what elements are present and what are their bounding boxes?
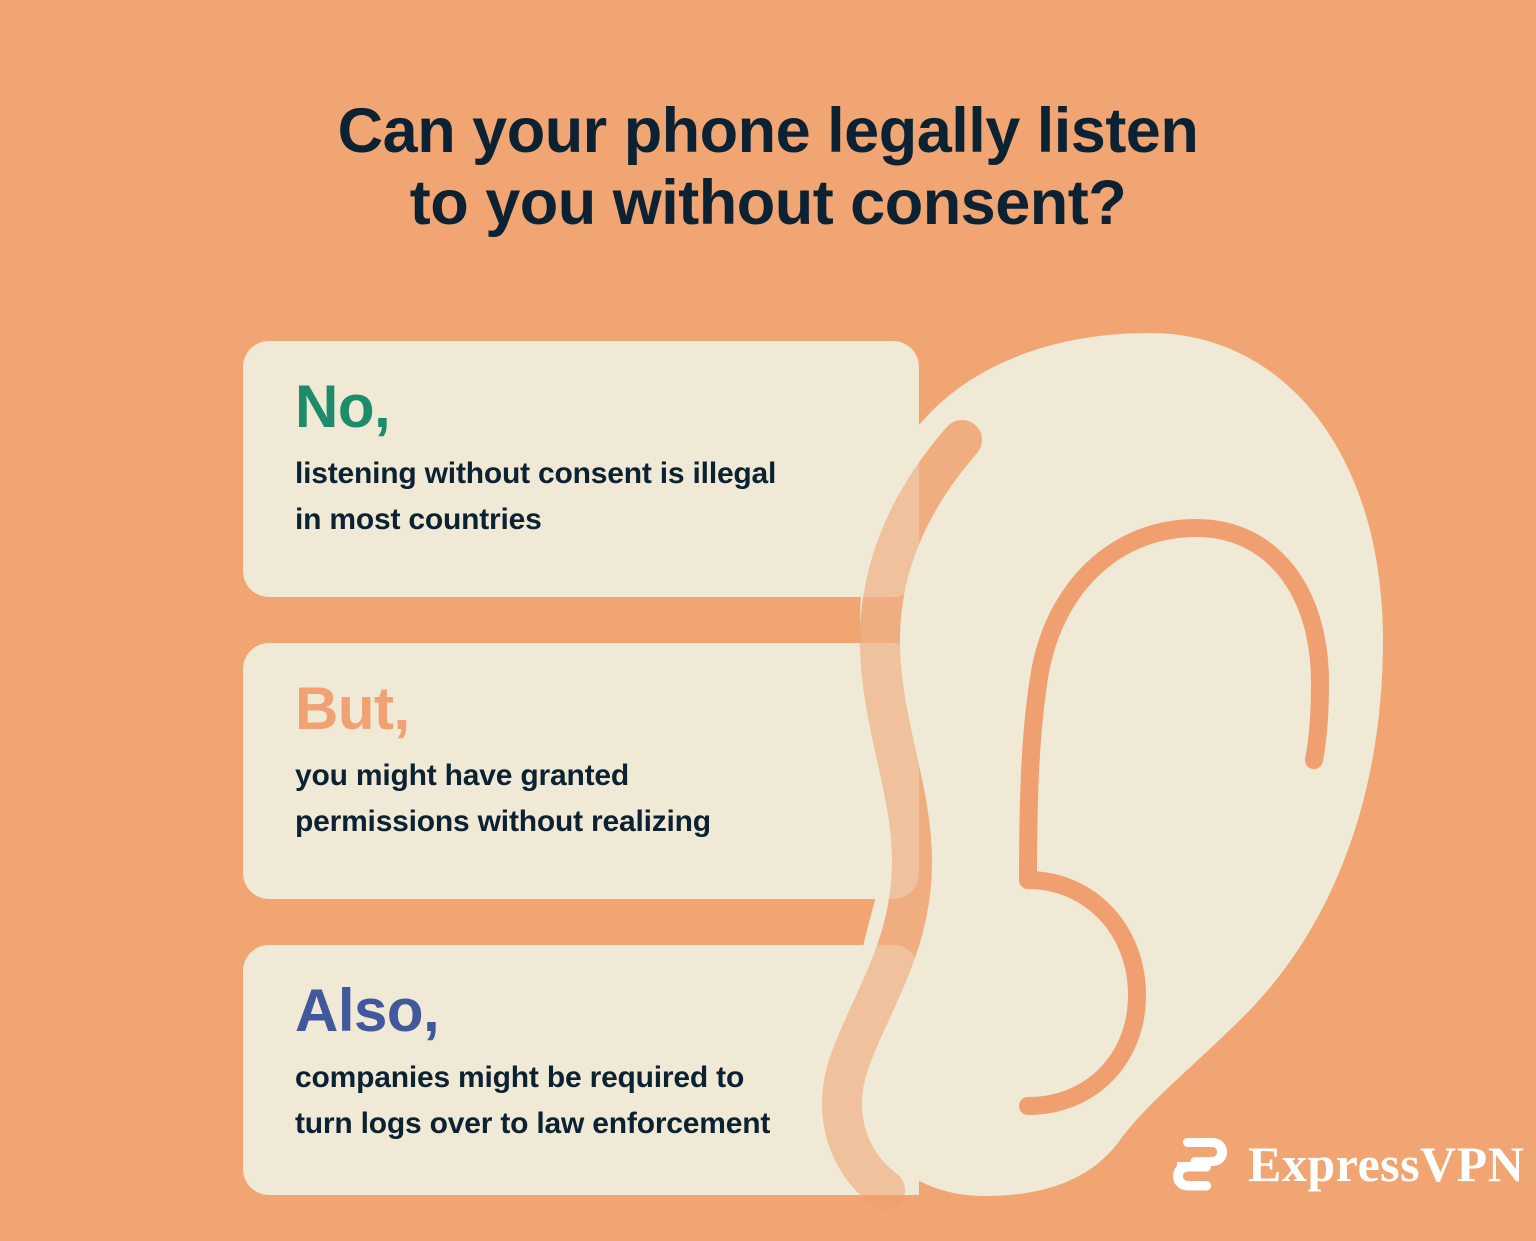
card-body-no: listening without consent is illegal in … bbox=[295, 451, 919, 542]
ear-tragus-curve bbox=[1028, 880, 1137, 1106]
infographic-poster: Can your phone legally listen to you wit… bbox=[0, 0, 1536, 1241]
page-title: Can your phone legally listen to you wit… bbox=[0, 96, 1536, 240]
ear-body-shape bbox=[850, 333, 1383, 1196]
card-lead-also: Also, bbox=[295, 981, 919, 1041]
statement-card-no: No, listening without consent is illegal… bbox=[243, 341, 919, 597]
card-lead-no: No, bbox=[295, 377, 919, 437]
card-body-but: you might have granted permissions witho… bbox=[295, 753, 919, 844]
expressvpn-e-mark bbox=[1168, 1132, 1232, 1196]
expressvpn-wordmark: ExpressVPN bbox=[1248, 1139, 1524, 1189]
expressvpn-logo[interactable]: ExpressVPN bbox=[1168, 1132, 1524, 1196]
card-lead-but: But, bbox=[295, 679, 919, 739]
statement-card-but: But, you might have granted permissions … bbox=[243, 643, 919, 899]
ear-inner-swirl bbox=[1028, 528, 1320, 880]
statement-card-also: Also, companies might be required to tur… bbox=[243, 945, 919, 1195]
card-body-also: companies might be required to turn logs… bbox=[295, 1055, 919, 1146]
